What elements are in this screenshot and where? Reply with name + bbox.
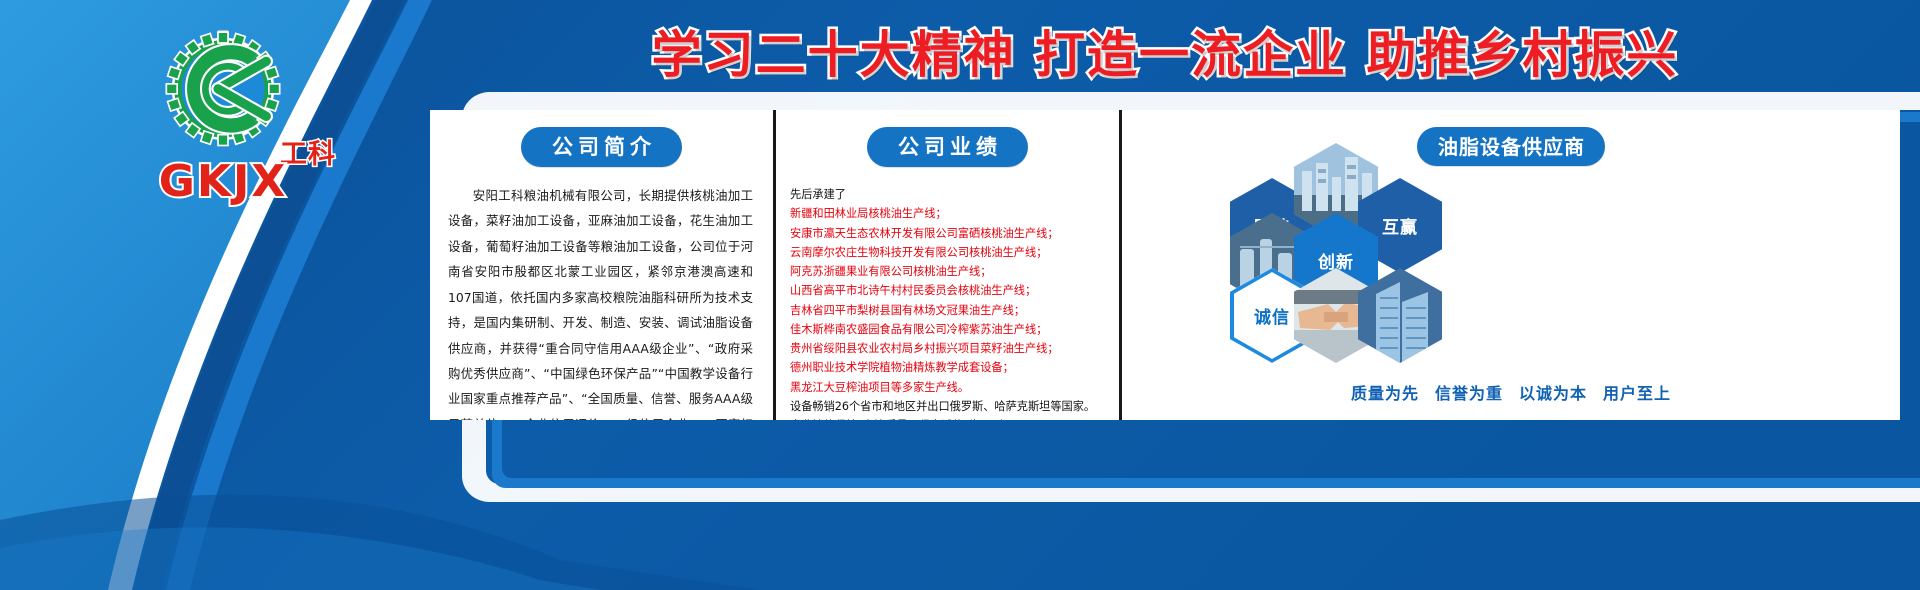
hexagon-cluster: 团结 [1122, 168, 1900, 358]
performance-project-item: 黑龙江大豆榨油项目等多家生产线。 [790, 378, 1109, 397]
performance-lead: 先后承建了 [790, 185, 1109, 204]
panel-intro-body: 安阳工科粮油机械有限公司，长期提供核桃油加工设备，菜籽油加工设备，亚麻油加工设备… [448, 183, 753, 420]
slogan-phrase: 用户至上 [1603, 384, 1671, 403]
performance-project-item: 贵州省绥阳县农业农村局乡村振兴项目菜籽油生产线； [790, 339, 1109, 358]
panel-company-performance: 公司业绩 先后承建了 新疆和田林业局核桃油生产线；安康市瀛天生态农林开发有限公司… [776, 110, 1119, 420]
performance-project-item: 德州职业技术学院植物油精炼教学成套设备； [790, 358, 1109, 377]
intro-paragraph: 安阳工科粮油机械有限公司，长期提供核桃油加工设备，菜籽油加工设备，亚麻油加工设备… [448, 183, 753, 420]
slogan-phrase: 质量为先 [1351, 384, 1419, 403]
hex-label: 互赢 [1382, 213, 1418, 238]
slogan-phrase: 信誉为重 [1435, 384, 1503, 403]
performance-project-item: 新疆和田林业局核桃油生产线； [790, 204, 1109, 223]
poster-stage: 工科 GKJX 学习二十大精神 打造一流企业 助推乡村振兴 公司简介 安阳工科粮… [0, 0, 1920, 590]
supply-slogan: 质量为先信誉为重以诚为本用户至上 [1122, 380, 1900, 404]
gear-gk-logo-icon [148, 28, 298, 153]
panel-supply-badge: 油脂设备供应商 [1417, 127, 1605, 166]
panel-company-intro: 公司简介 安阳工科粮油机械有限公司，长期提供核桃油加工设备，菜籽油加工设备，亚麻… [430, 110, 773, 420]
panel-oil-equipment-supplier: 油脂设备供应商 团结 [1122, 110, 1900, 420]
panel-performance-badge: 公司业绩 [867, 127, 1028, 167]
page-title: 学习二十大精神 打造一流企业 助推乡村振兴 [430, 22, 1900, 88]
performance-footer-line: 设备畅销26个省市和地区并出口俄罗斯、哈萨克斯坦等国家。 [790, 397, 1109, 416]
hex-label: 诚信 [1254, 303, 1290, 328]
performance-project-item: 阿克苏浙疆果业有限公司核桃油生产线； [790, 262, 1109, 281]
panel-intro-badge: 公司简介 [521, 127, 682, 167]
slogan-phrase: 以诚为本 [1519, 384, 1587, 403]
logo-latin-name: GKJX [118, 156, 328, 207]
panel-row: 公司简介 安阳工科粮油机械有限公司，长期提供核桃油加工设备，菜籽油加工设备，亚麻… [430, 110, 1900, 420]
performance-project-item: 云南摩尔农庄生物科技开发有限公司核桃油生产线； [790, 243, 1109, 262]
performance-footer-line: 企业始终坚持“专注质量，坚守诚信”为原则。 [790, 416, 1109, 420]
performance-project-item: 佳木斯桦南农盛园食品有限公司冷榨紫苏油生产线； [790, 320, 1109, 339]
performance-footer: 设备畅销26个省市和地区并出口俄罗斯、哈萨克斯坦等国家。企业始终坚持“专注质量，… [790, 397, 1109, 420]
panel-performance-body: 先后承建了 新疆和田林业局核桃油生产线；安康市瀛天生态农林开发有限公司富硒核桃油… [790, 185, 1109, 420]
company-logo: 工科 GKJX [118, 28, 328, 208]
performance-project-item: 山西省高平市北诗午村村民委员会核桃油生产线； [790, 281, 1109, 300]
performance-project-list: 新疆和田林业局核桃油生产线；安康市瀛天生态农林开发有限公司富硒核桃油生产线；云南… [790, 204, 1109, 397]
performance-project-item: 吉林省四平市梨树县国有林场文冠果油生产线； [790, 301, 1109, 320]
performance-project-item: 安康市瀛天生态农林开发有限公司富硒核桃油生产线； [790, 224, 1109, 243]
